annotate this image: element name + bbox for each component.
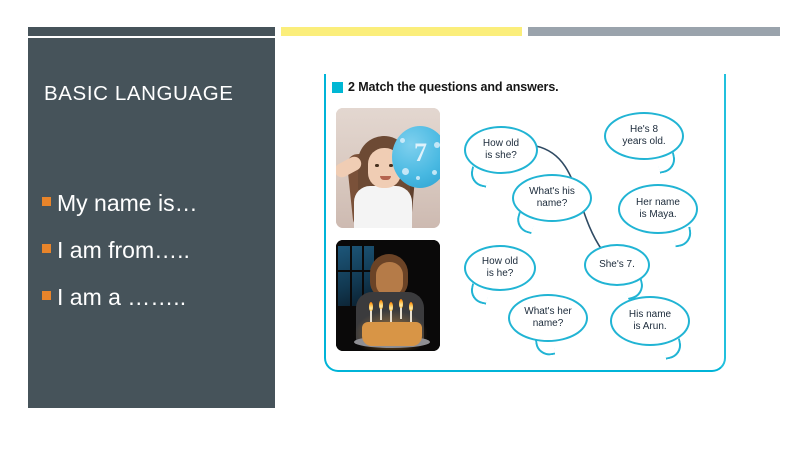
window-mullion: [338, 270, 374, 272]
flame-icon: [409, 302, 413, 311]
list-item-label: I am from…..: [57, 237, 190, 264]
list-item: I am from…..: [42, 237, 267, 266]
bubble-text: How old is he?: [478, 256, 522, 281]
candle: [410, 310, 412, 322]
square-bullet-icon: [42, 244, 51, 253]
page-title: BASIC LANGUAGE: [44, 82, 264, 106]
worksheet-heading: 2 Match the questions and answers.: [332, 80, 559, 94]
balloon-dot: [416, 176, 420, 180]
square-bullet-icon: [42, 197, 51, 206]
speech-bubble-shes-7[interactable]: She's 7.: [584, 244, 650, 286]
flame-icon: [369, 302, 373, 311]
candle: [380, 308, 382, 320]
flame-icon: [389, 302, 393, 311]
top-decorative-bars: [0, 0, 800, 40]
flame-icon: [379, 300, 383, 309]
square-bullet-icon: [332, 82, 343, 93]
top-bar-dark: [28, 27, 275, 36]
speech-bubble-how-old-is-he[interactable]: How old is he?: [464, 245, 536, 291]
birthday-cake: [362, 322, 422, 346]
balloon: 7: [392, 126, 440, 188]
bubble-text: He's 8 years old.: [618, 124, 669, 149]
eye-left-icon: [375, 164, 379, 167]
list-item: I am a ……..: [42, 284, 267, 313]
speech-bubble-hes-8-years-old[interactable]: He's 8 years old.: [604, 112, 684, 160]
photo-girl-with-balloon: 7: [336, 108, 440, 228]
candle: [390, 310, 392, 322]
speech-bubble-how-old-is-she[interactable]: How old is she?: [464, 126, 538, 174]
speech-bubble-his-name-is-arun[interactable]: His name is Arun.: [610, 296, 690, 346]
bubble-text: His name is Arun.: [625, 309, 675, 334]
list-item: My name is…: [42, 190, 267, 219]
bubble-text: What's her name?: [520, 306, 575, 331]
candle: [370, 310, 372, 322]
sidebar-panel: BASIC LANGUAGE My name is… I am from….. …: [28, 38, 275, 408]
sidebar-bullet-list: My name is… I am from….. I am a ……..: [42, 190, 267, 331]
photo-boy-with-cake: [336, 240, 440, 351]
worksheet-panel: 2 Match the questions and answers. 7: [322, 60, 728, 376]
bubble-text: How old is she?: [479, 138, 523, 163]
shirt: [354, 186, 412, 228]
top-bar-gray: [528, 27, 780, 36]
speech-bubble-whats-her-name[interactable]: What's her name?: [508, 294, 588, 342]
balloon-dot: [434, 142, 440, 148]
top-bar-yellow: [281, 27, 522, 36]
balloon-dot: [402, 168, 409, 175]
list-item-label: My name is…: [57, 190, 198, 217]
bubble-text: Her name is Maya.: [632, 197, 684, 222]
mouth-icon: [380, 176, 391, 180]
window-mullion: [350, 246, 352, 306]
worksheet-heading-text: 2 Match the questions and answers.: [348, 80, 559, 94]
bubble-text: What's his name?: [525, 186, 579, 211]
speech-bubble-whats-his-name[interactable]: What's his name?: [512, 174, 592, 222]
speech-bubble-her-name-is-maya[interactable]: Her name is Maya.: [618, 184, 698, 234]
square-bullet-icon: [42, 291, 51, 300]
balloon-dot: [400, 138, 405, 143]
candle: [400, 307, 402, 319]
flame-icon: [399, 299, 403, 308]
balloon-number: 7: [414, 138, 427, 168]
face: [376, 262, 403, 296]
balloon-dot: [432, 170, 437, 175]
bubble-text: She's 7.: [595, 259, 639, 272]
list-item-label: I am a ……..: [57, 284, 186, 311]
